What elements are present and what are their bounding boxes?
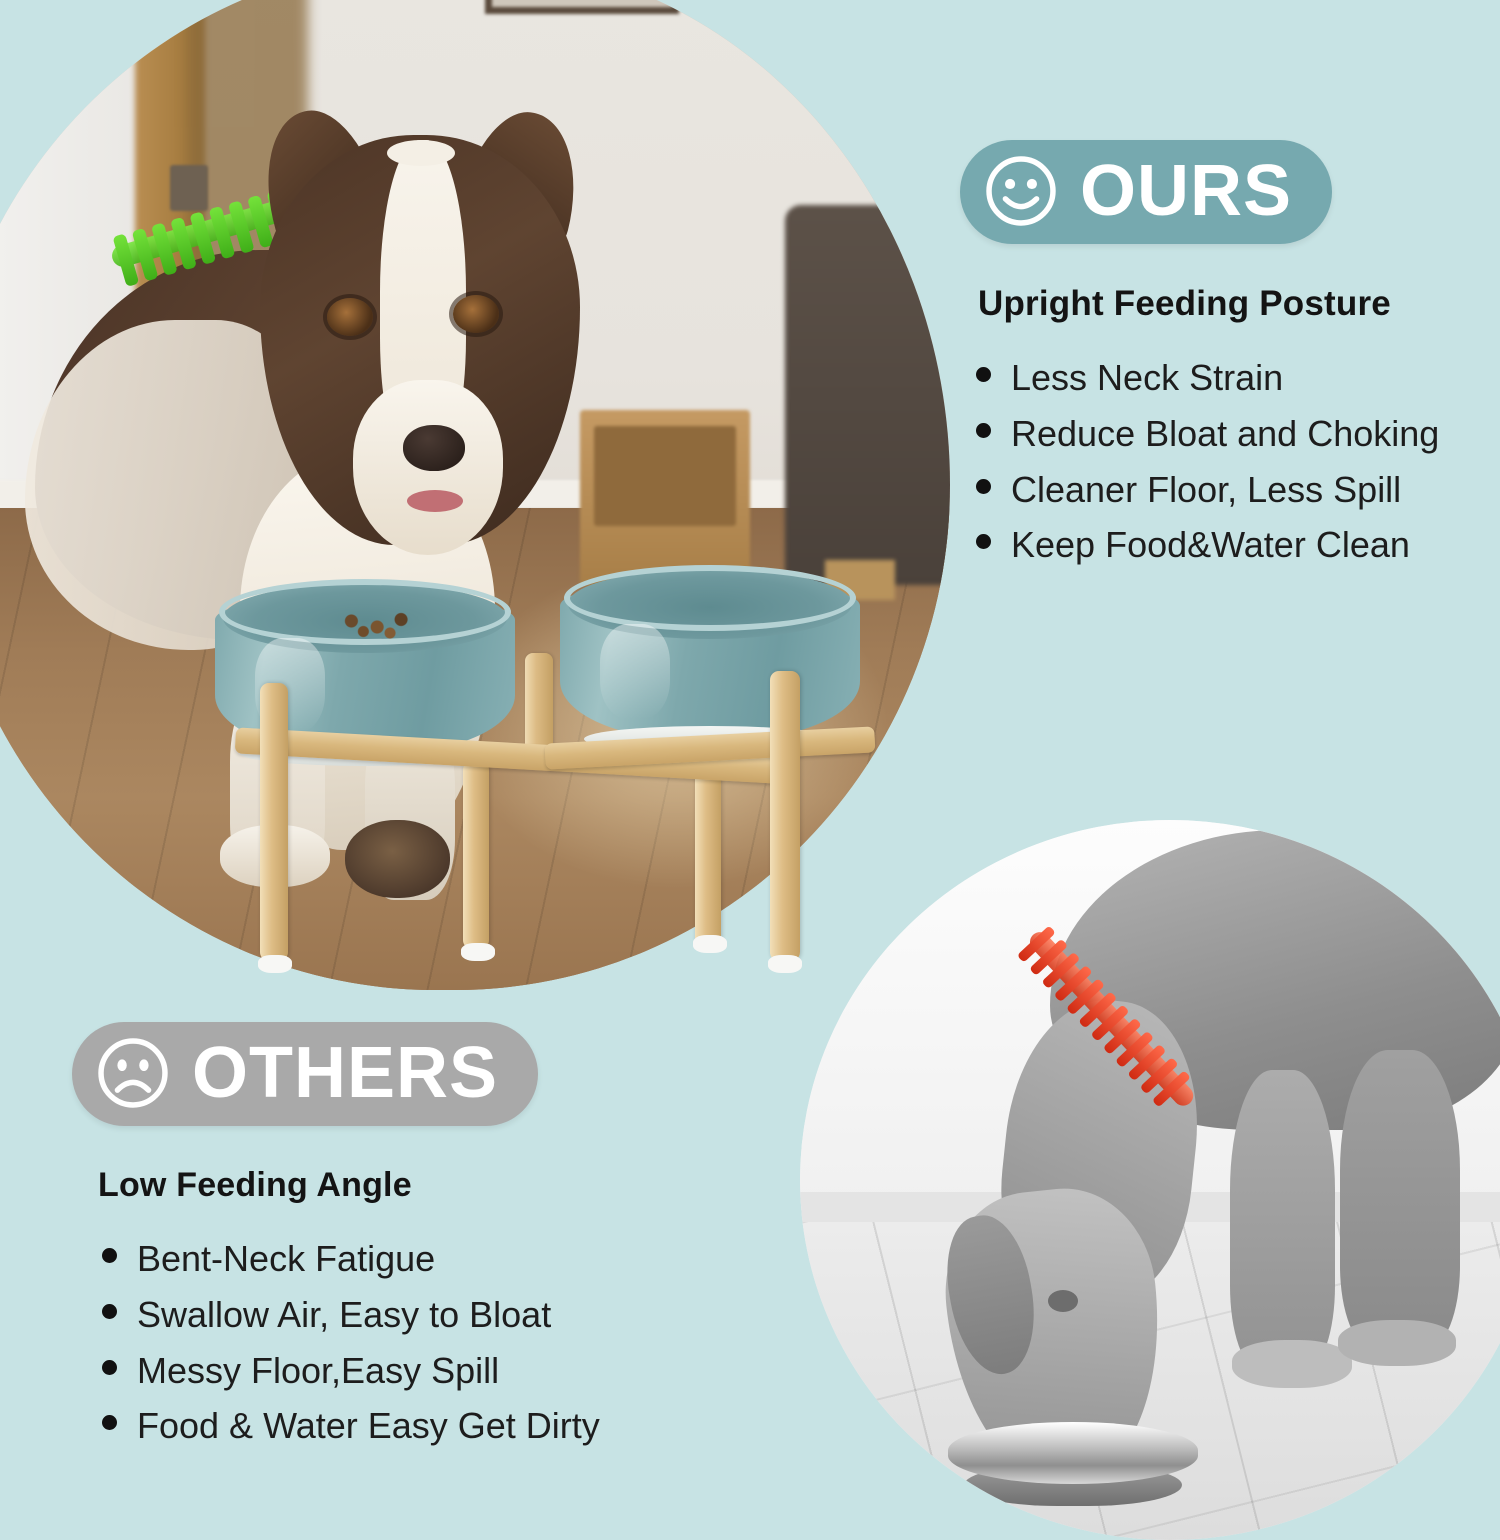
bullet-dot-icon	[102, 1248, 117, 1263]
ours-heading: Upright Feeding Posture	[978, 284, 1470, 324]
others-heading: Low Feeding Angle	[98, 1166, 672, 1205]
dog-eye-left	[327, 298, 373, 336]
others-badge-label: OTHERS	[192, 1037, 498, 1109]
ours-badge-label: OURS	[1080, 155, 1292, 227]
list-item: Bent-Neck Fatigue	[102, 1231, 672, 1287]
others-bullet-text: Messy Floor,Easy Spill	[137, 1343, 499, 1399]
bullet-dot-icon	[976, 479, 991, 494]
dog-tongue	[407, 490, 463, 512]
list-item: Food & Water Easy Get Dirty	[102, 1398, 672, 1454]
others-dog-foot-near	[1232, 1340, 1352, 1388]
list-item: Keep Food&Water Clean	[976, 517, 1470, 573]
bullet-dot-icon	[976, 423, 991, 438]
dog-eye-right	[453, 295, 499, 333]
bullet-dot-icon	[976, 534, 991, 549]
others-dog-hind-leg-near	[1230, 1070, 1335, 1370]
stand-leg-front-left	[260, 683, 288, 961]
others-dog-eye	[1048, 1290, 1078, 1312]
smiley-face-icon	[982, 152, 1060, 230]
bullet-dot-icon	[102, 1415, 117, 1430]
infographic-canvas: OURS Upright Feeding Posture Less Neck S…	[0, 0, 1500, 1500]
ours-bullet-text: Less Neck Strain	[1011, 350, 1283, 406]
elevated-double-bowl-stand	[215, 565, 895, 995]
ours-badge: OURS	[960, 140, 1332, 244]
others-badge: OTHERS	[72, 1022, 538, 1126]
stainless-floor-bowl	[948, 1408, 1198, 1504]
bullet-dot-icon	[102, 1360, 117, 1375]
list-item: Messy Floor,Easy Spill	[102, 1343, 672, 1399]
others-photo	[800, 820, 1500, 1540]
ours-bullet-text: Cleaner Floor, Less Spill	[1011, 462, 1401, 518]
others-bullet-text: Swallow Air, Easy to Bloat	[137, 1287, 551, 1343]
ours-benefit-list: Less Neck Strain Reduce Bloat and Chokin…	[976, 350, 1470, 573]
stand-leg-front-right	[770, 671, 800, 961]
frowning-face-icon	[94, 1034, 172, 1112]
wall-picture-frame	[485, 0, 679, 14]
sofa	[785, 205, 950, 585]
others-dog-foot-far	[1338, 1320, 1456, 1366]
list-item: Swallow Air, Easy to Bloat	[102, 1287, 672, 1343]
dog-forehead-patch	[387, 140, 455, 166]
others-drawback-list: Bent-Neck Fatigue Swallow Air, Easy to B…	[102, 1231, 672, 1454]
others-bullet-text: Food & Water Easy Get Dirty	[137, 1398, 600, 1454]
stand-foot-front-left	[258, 955, 292, 973]
ours-bullet-text: Keep Food&Water Clean	[1011, 517, 1410, 573]
others-dog-hind-leg-far	[1340, 1050, 1460, 1350]
ours-panel: OURS Upright Feeding Posture Less Neck S…	[960, 140, 1470, 573]
ours-bullet-text: Reduce Bloat and Choking	[1011, 406, 1439, 462]
list-item: Less Neck Strain	[976, 350, 1470, 406]
bullet-dot-icon	[102, 1304, 117, 1319]
list-item: Cleaner Floor, Less Spill	[976, 462, 1470, 518]
bamboo-stand-front	[215, 565, 895, 995]
others-panel: OTHERS Low Feeding Angle Bent-Neck Fatig…	[72, 1022, 672, 1454]
dog-nose	[403, 425, 465, 471]
bullet-dot-icon	[976, 367, 991, 382]
others-bullet-text: Bent-Neck Fatigue	[137, 1231, 435, 1287]
list-item: Reduce Bloat and Choking	[976, 406, 1470, 462]
stand-foot-front-right	[768, 955, 802, 973]
